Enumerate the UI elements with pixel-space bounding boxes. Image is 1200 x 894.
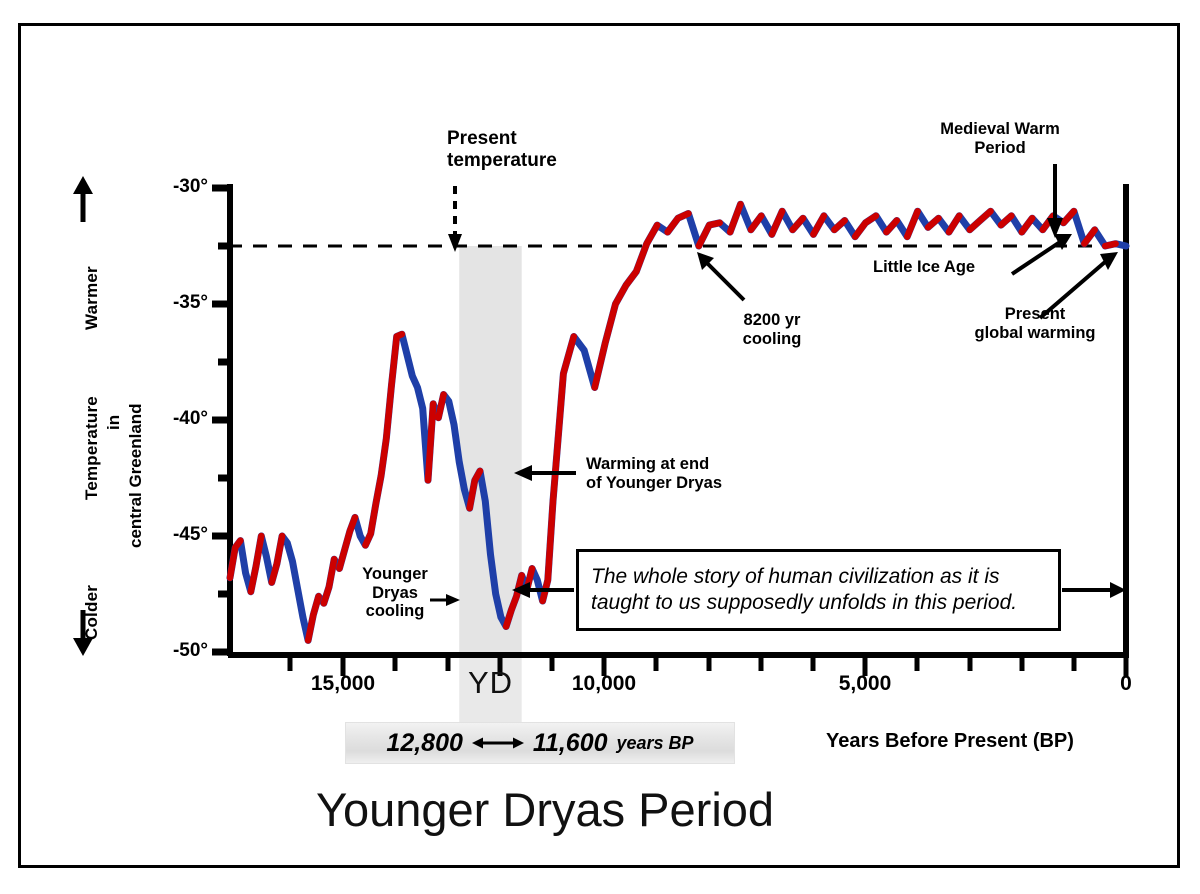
annotation-warming-end-younger-dryas: Warming at end of Younger Dryas <box>586 455 816 492</box>
annotation-line: Dryas <box>352 584 438 603</box>
annotation-little-ice-age: Little Ice Age <box>873 258 1023 277</box>
present-temperature-arrow <box>448 186 462 252</box>
x-axis-title: Years Before Present (BP) <box>795 730 1105 753</box>
y-tick-label: -35° <box>148 292 208 314</box>
x-ticks <box>290 655 1126 676</box>
y-axis-label-warmer: Warmer <box>82 266 102 330</box>
x-tick-label: 5,000 <box>810 672 920 696</box>
y-axis-sublabel-region: central Greenland <box>126 403 146 548</box>
yd-range-end: 11,600 <box>533 729 608 758</box>
story-line: taught to us supposedly unfolds in this … <box>591 590 1017 616</box>
annotation-line: cooling <box>712 330 832 349</box>
y-axis-label-group: Warmer Temperature Colder <box>62 170 96 670</box>
annotation-line: temperature <box>447 150 637 172</box>
annotation-line: 8200 yr <box>712 311 832 330</box>
yd-range-text: 12,800 11,600 years BP <box>386 729 693 758</box>
y-axis-sublabel-in: in <box>104 415 124 430</box>
annotation-line: global warming <box>945 324 1125 343</box>
civilization-story-box: The whole story of human civilization as… <box>576 549 1061 631</box>
x-tick-label: 0 <box>1098 672 1154 696</box>
annotation-line: Present <box>945 305 1125 324</box>
y-tick-label: -30° <box>148 176 208 198</box>
yd-range-bar: 12,800 11,600 years BP <box>345 722 735 764</box>
yd-range-unit: years BP <box>617 733 694 754</box>
annotation-line: of Younger Dryas <box>586 474 816 493</box>
y-axis-sublabel-group: in central Greenland <box>104 300 148 560</box>
yd-band-label: YD <box>459 665 522 701</box>
annotation-8200-yr-cooling: 8200 yr cooling <box>712 311 832 348</box>
figure-title: Younger Dryas Period <box>0 782 1090 837</box>
annotation-line: Little Ice Age <box>873 258 1023 277</box>
warming-end-arrow <box>514 465 576 481</box>
warmer-up-arrow-icon <box>70 176 96 222</box>
y-tick-label: -50° <box>148 640 208 662</box>
story-text: The whole story of human civilization as… <box>591 564 1017 616</box>
y-tick-label: -45° <box>148 524 208 546</box>
annotation-line: cooling <box>352 602 438 621</box>
yd-shaded-band <box>459 246 522 655</box>
y-tick-label: -40° <box>148 408 208 430</box>
y-axis-label-temperature: Temperature <box>82 396 102 500</box>
annotation-present-temperature: Present temperature <box>447 128 637 172</box>
medieval-warm-period-arrow <box>1047 164 1063 238</box>
annotation-line: Present <box>447 128 637 150</box>
figure-canvas: -30° -35° -40° -45° -50° 15,000 10,000 5… <box>0 0 1200 894</box>
annotation-line: Younger <box>352 565 438 584</box>
story-line: The whole story of human civilization as… <box>591 564 1017 590</box>
yd-range-start: 12,800 <box>386 729 462 758</box>
double-arrow-icon <box>472 734 524 752</box>
8200-yr-cooling-arrow <box>697 252 744 300</box>
annotation-line: Period <box>915 139 1085 158</box>
annotation-medieval-warm-period: Medieval Warm Period <box>915 120 1085 157</box>
x-tick-label: 10,000 <box>549 672 659 696</box>
x-tick-label: 15,000 <box>288 672 398 696</box>
colder-down-arrow-icon <box>70 610 96 656</box>
annotation-line: Medieval Warm <box>915 120 1085 139</box>
annotation-line: Warming at end <box>586 455 816 474</box>
annotation-present-global-warming: Present global warming <box>945 305 1125 342</box>
annotation-younger-dryas-cooling: Younger Dryas cooling <box>352 565 438 621</box>
